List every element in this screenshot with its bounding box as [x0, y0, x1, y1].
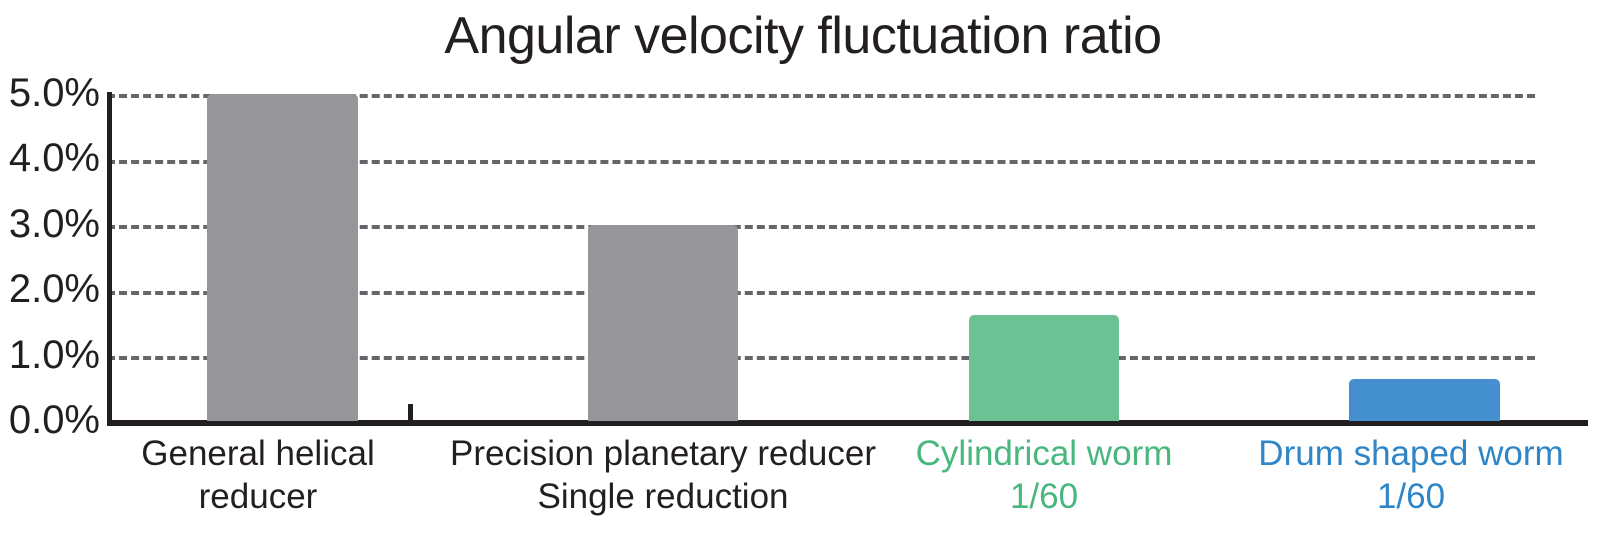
x-label-line2: 1/60: [1216, 475, 1606, 518]
y-tick-label-3: 3.0%: [0, 204, 100, 244]
x-label-line2: 1/60: [874, 475, 1214, 518]
bar-general-helical-reducer[interactable]: [207, 94, 358, 421]
y-tick-label-0: 0.0%: [0, 400, 100, 440]
y-tick-label-2: 2.0%: [0, 269, 100, 309]
bar-precision-planetary-reducer[interactable]: [588, 225, 738, 421]
x-label-line1: Cylindrical worm: [874, 432, 1214, 475]
y-axis-labels: 5.0% 4.0% 3.0% 2.0% 1.0% 0.0%: [0, 0, 100, 547]
bar-cylindrical-worm[interactable]: [969, 315, 1119, 421]
chart-container: Angular velocity fluctuation ratio 5.0% …: [0, 0, 1606, 547]
x-label-line1: Precision planetary reducer: [413, 432, 913, 475]
x-label-line1: Drum shaped worm: [1216, 432, 1606, 475]
x-category-label-general-helical-reducer: General helical reducer: [108, 432, 408, 518]
x-label-line1: General helical: [108, 432, 408, 475]
y-axis-line: [107, 92, 112, 426]
y-tick-label-5: 5.0%: [0, 73, 100, 113]
x-axis-tick-1: [408, 404, 413, 421]
x-category-label-precision-planetary-reducer: Precision planetary reducer Single reduc…: [413, 432, 913, 518]
y-tick-label-1: 1.0%: [0, 335, 100, 375]
x-label-line2: reducer: [108, 475, 408, 518]
x-category-label-cylindrical-worm: Cylindrical worm 1/60: [874, 432, 1214, 518]
y-tick-label-4: 4.0%: [0, 138, 100, 178]
x-category-label-drum-shaped-worm: Drum shaped worm 1/60: [1216, 432, 1606, 518]
chart-title: Angular velocity fluctuation ratio: [0, 6, 1606, 66]
bar-drum-shaped-worm[interactable]: [1349, 379, 1500, 421]
x-label-line2: Single reduction: [413, 475, 913, 518]
